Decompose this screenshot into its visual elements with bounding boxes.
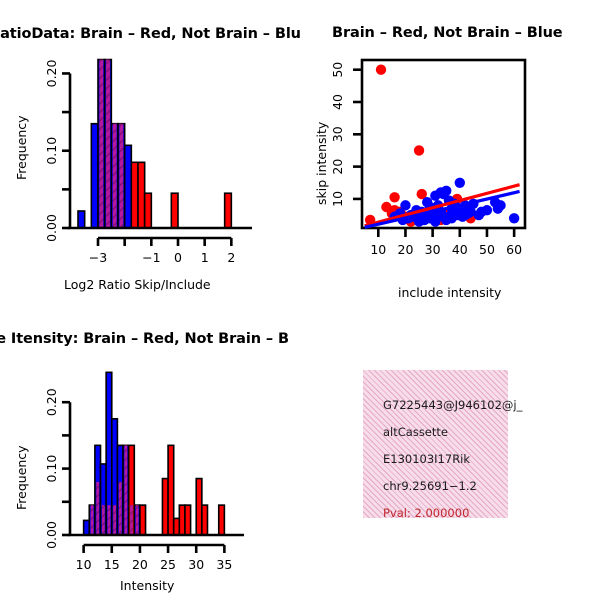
x-tick-label: 2 <box>227 250 235 265</box>
hist-bars-group <box>84 372 225 535</box>
hist-bar <box>168 445 174 535</box>
hist-bar <box>185 505 191 535</box>
scatter-point <box>482 205 492 215</box>
scatter-plot: 1020304050102030405060 <box>300 50 600 300</box>
y-tick-label: 0.00 <box>44 214 59 242</box>
hist-bar-overlap <box>136 505 139 535</box>
scatter-point <box>509 213 519 223</box>
panel-intensity-scatter: Brain – Red, Not Brain – Blue skip inten… <box>300 0 600 310</box>
scatter-point <box>495 200 505 210</box>
hist-bar <box>78 211 85 228</box>
hist-bar <box>171 193 178 228</box>
y-tick-label: 0.20 <box>44 59 59 87</box>
x-tick-label: −3 <box>89 250 107 265</box>
hist-bar-overlap <box>108 505 111 535</box>
y-tick-label: 0.10 <box>44 137 59 165</box>
ratio-histogram-plot: 0.000.100.20−3−1012 <box>0 50 300 310</box>
hist-bar <box>140 505 146 535</box>
x-tick-label: 30 <box>188 557 204 572</box>
info-box-lines: G7225443@J946102@j_ altCassette E130103I… <box>363 370 508 527</box>
gene-intensity-plot: 0.000.100.20101520253035 <box>0 355 300 605</box>
y-tick-label: 0.00 <box>44 521 59 549</box>
x-tick-label: 40 <box>452 242 468 257</box>
y-tick-label: 10 <box>330 191 345 207</box>
x-tick-label: 60 <box>506 242 522 257</box>
y-tick-label: 40 <box>330 94 345 110</box>
info-line-locus: chr9.25691−1.2 <box>383 473 508 500</box>
info-line-pval: Pval: 2.000000 <box>383 500 508 527</box>
axes-group: 0.000.100.20−3−1012 <box>44 59 252 265</box>
hist-bar <box>125 145 132 228</box>
x-tick-label: 25 <box>160 557 176 572</box>
hist-bar-overlap <box>113 124 117 228</box>
hist-bar-overlap <box>124 445 127 535</box>
x-tick-label: 10 <box>76 557 92 572</box>
hist-bar <box>174 518 180 535</box>
axes-group: 0.000.100.20101520253035 <box>44 388 244 572</box>
panel-ratio-histogram: RatioData: Brain – Red, Not Brain – Blu … <box>0 0 300 310</box>
hist-bar <box>225 193 232 228</box>
x-tick-label: 35 <box>216 557 232 572</box>
hist-bar-overlap <box>102 505 105 535</box>
hist-bar <box>145 193 152 228</box>
hist-bar <box>84 520 90 535</box>
x-tick-label: 15 <box>104 557 120 572</box>
gene-info-box: G7225443@J946102@j_ altCassette E130103I… <box>363 370 508 518</box>
hist-bar <box>179 505 185 535</box>
y-tick-label: 30 <box>330 126 345 142</box>
info-line-id: G7225443@J946102@j_ <box>383 392 508 419</box>
hist-bar-overlap <box>119 124 123 228</box>
y-tick-label: 20 <box>330 159 345 175</box>
scatter-point <box>389 192 399 202</box>
hist-bar-overlap <box>113 505 116 535</box>
x-tick-label: 20 <box>398 242 414 257</box>
hist-bars-group <box>78 60 231 228</box>
hist-bar <box>202 505 208 535</box>
hist-bar-overlap <box>96 482 99 535</box>
hist-bar <box>162 479 168 535</box>
panel-gene-intensity-histogram: ne Itensity: Brain – Red, Not Brain – B … <box>0 310 300 600</box>
hist-bar-overlap <box>91 505 94 535</box>
x-tick-label: 20 <box>132 557 148 572</box>
hist-bar <box>91 124 98 228</box>
y-tick-label: 0.20 <box>44 388 59 416</box>
hist-bar <box>138 162 145 228</box>
x-tick-label: 30 <box>425 242 441 257</box>
info-line-event: altCassette <box>383 419 508 446</box>
hist-bar-overlap <box>99 60 103 228</box>
hist-bar <box>219 505 225 535</box>
x-tick-label: −1 <box>142 250 160 265</box>
x-tick-label: 1 <box>201 250 209 265</box>
scatter-point <box>376 64 386 74</box>
panel-title-scatter: Brain – Red, Not Brain – Blue <box>332 25 563 41</box>
panel-title-ratio: RatioData: Brain – Red, Not Brain – Blu <box>0 26 301 42</box>
scatter-point <box>430 216 440 226</box>
y-tick-label: 50 <box>330 62 345 78</box>
hist-bar <box>196 479 202 535</box>
hist-bar <box>131 162 138 228</box>
y-tick-label: 0.10 <box>44 455 59 483</box>
figure-canvas: RatioData: Brain – Red, Not Brain – Blu … <box>0 0 600 600</box>
hist-bar-overlap <box>130 505 133 535</box>
scatter-point <box>455 178 465 188</box>
x-tick-label: 50 <box>479 242 495 257</box>
hist-bar-overlap <box>119 482 122 535</box>
scatter-point <box>414 145 424 155</box>
info-line-gene: E130103I17Rik <box>383 446 508 473</box>
x-tick-label: 0 <box>174 250 182 265</box>
panel-title-gene-intensity: ne Itensity: Brain – Red, Not Brain – B <box>0 331 289 347</box>
x-tick-label: 10 <box>370 242 386 257</box>
scatter-point <box>460 210 470 220</box>
hist-bar-overlap <box>106 60 110 228</box>
